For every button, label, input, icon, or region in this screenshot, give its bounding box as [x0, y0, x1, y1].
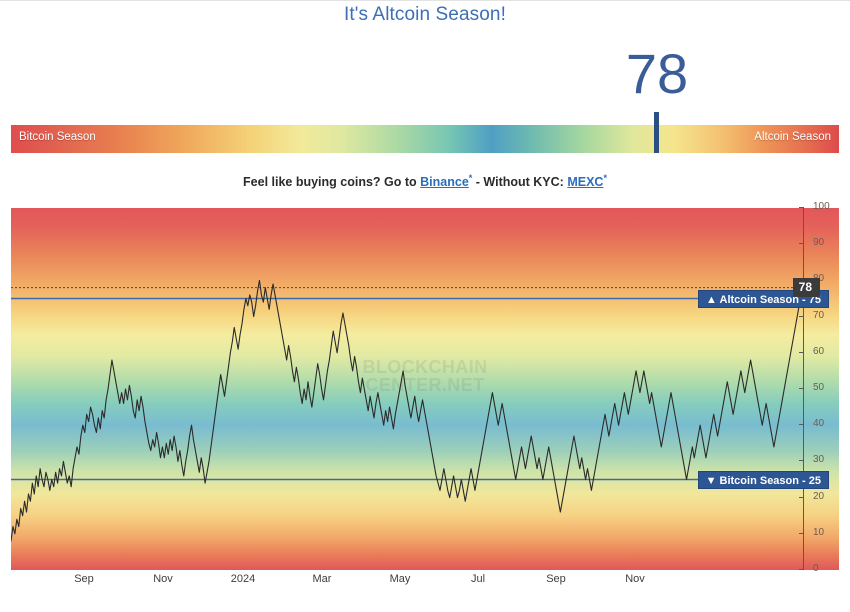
promo-prefix: Feel like buying coins? Go to — [243, 175, 420, 189]
mexc-asterisk: * — [603, 173, 607, 183]
y-tick-mark — [799, 243, 804, 244]
x-tick-label: Mar — [313, 573, 332, 585]
y-tick-mark — [799, 497, 804, 498]
y-tick-mark — [799, 460, 804, 461]
meter-needle — [654, 112, 659, 153]
current-score-value: 78 — [626, 45, 688, 103]
promo-line: Feel like buying coins? Go to Binance* -… — [0, 175, 850, 189]
y-tick-label: 20 — [813, 491, 824, 502]
y-tick-mark — [799, 316, 804, 317]
x-tick-label: Nov — [153, 573, 173, 585]
x-tick-label: Jul — [471, 573, 485, 585]
y-tick-label: 10 — [813, 527, 824, 538]
y-tick-mark — [799, 388, 804, 389]
y-tick-label: 50 — [813, 382, 824, 393]
altcoin-season-page: It's Altcoin Season! 78 Bitcoin Season A… — [0, 1, 850, 612]
index-series-line — [11, 280, 803, 541]
x-tick-label: 2024 — [231, 573, 255, 585]
chart-plot-area — [11, 208, 839, 570]
y-tick-mark — [799, 352, 804, 353]
meter-label-altcoin-season: Altcoin Season — [754, 131, 831, 143]
x-tick-label: Sep — [74, 573, 94, 585]
current-value-badge: 78 — [793, 278, 820, 297]
y-tick-label: 30 — [813, 454, 824, 465]
y-tick-label: 40 — [813, 418, 824, 429]
y-tick-label: 70 — [813, 310, 824, 321]
season-meter-gradient — [11, 125, 839, 153]
index-chart[interactable]: BLOCKCHAIN CENTER.NET 010203040506070809… — [11, 208, 839, 570]
mexc-link[interactable]: MEXC — [567, 175, 603, 189]
x-tick-label: Sep — [546, 573, 566, 585]
season-meter: Bitcoin Season Altcoin Season — [11, 125, 839, 153]
bitcoin-season-threshold-badge: ▼ Bitcoin Season - 25 — [698, 471, 829, 489]
y-tick-mark — [799, 533, 804, 534]
y-tick-mark — [799, 569, 804, 570]
y-tick-mark — [799, 207, 804, 208]
meter-label-bitcoin-season: Bitcoin Season — [19, 131, 96, 143]
threshold-lines — [11, 288, 803, 480]
x-tick-label: May — [390, 573, 411, 585]
y-axis-line — [803, 208, 804, 570]
promo-middle: - Without KYC: — [472, 175, 567, 189]
y-tick-label: 100 — [813, 201, 830, 212]
y-tick-label: 60 — [813, 346, 824, 357]
x-axis-labels: SepNov2024MarMayJulSepNov — [0, 573, 850, 597]
binance-link[interactable]: Binance — [420, 175, 469, 189]
x-tick-label: Nov — [625, 573, 645, 585]
y-tick-mark — [799, 424, 804, 425]
y-tick-label: 90 — [813, 237, 824, 248]
page-title: It's Altcoin Season! — [0, 4, 850, 26]
